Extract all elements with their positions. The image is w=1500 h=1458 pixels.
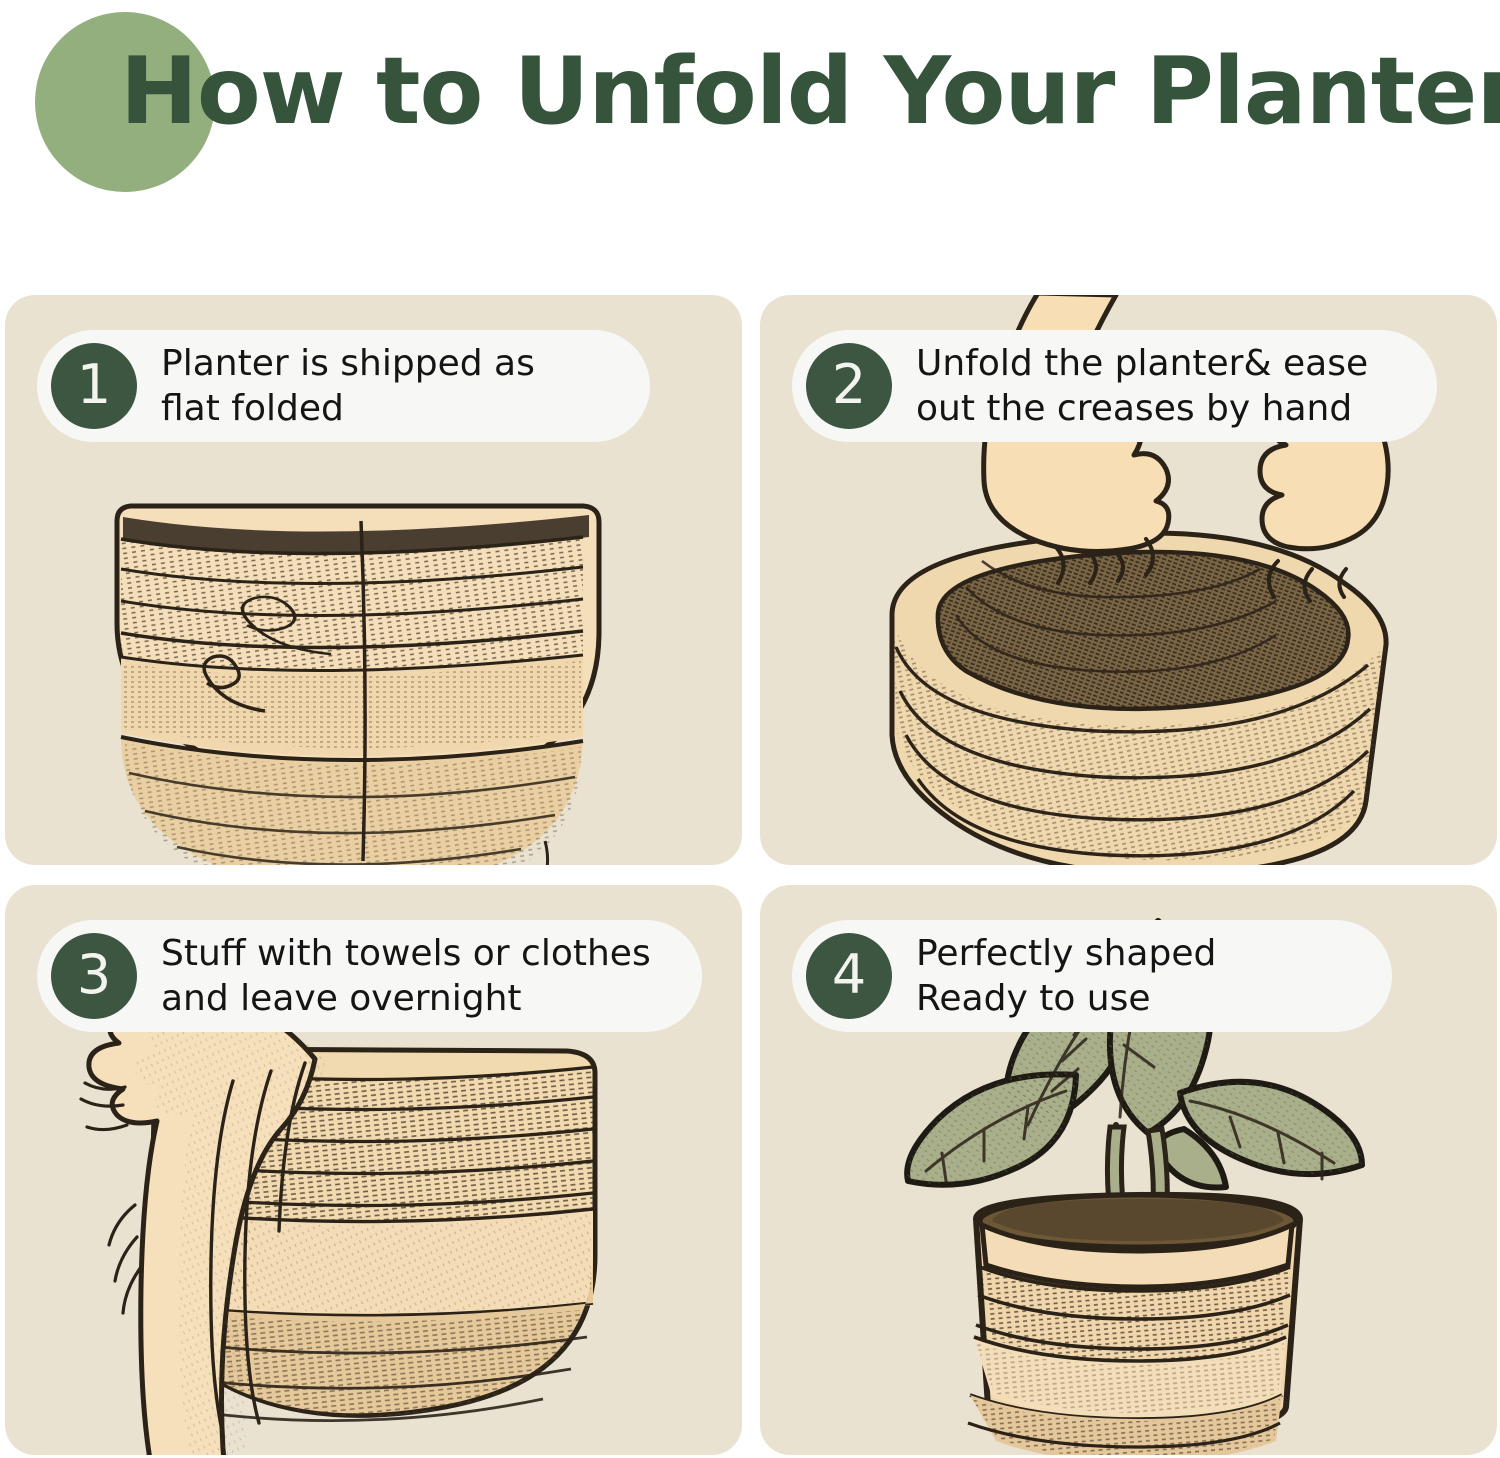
step-number-badge-4: 4 — [806, 933, 892, 1019]
step-panel-4: 4 Perfectly shaped Ready to use — [760, 885, 1497, 1455]
step-panel-3: 3 Stuff with towels or clothes and leave… — [5, 885, 742, 1455]
steps-grid: 1 Planter is shipped as flat folded — [5, 295, 1495, 1455]
step-caption-text-3: Stuff with towels or clothes and leave o… — [161, 931, 651, 1021]
step-caption-text-4: Perfectly shaped Ready to use — [916, 931, 1216, 1021]
step-panel-2: 2 Unfold the planter& ease out the creas… — [760, 295, 1497, 865]
step-number-badge-1: 1 — [51, 343, 137, 429]
step-number-badge-2: 2 — [806, 343, 892, 429]
step-caption-pill-1: 1 Planter is shipped as flat folded — [37, 330, 650, 442]
page-title: How to Unfold Your Planter — [120, 36, 1470, 146]
page-header: How to Unfold Your Planter — [0, 0, 1500, 270]
step-caption-pill-4: 4 Perfectly shaped Ready to use — [792, 920, 1392, 1032]
step-caption-pill-3: 3 Stuff with towels or clothes and leave… — [37, 920, 702, 1032]
step-caption-pill-2: 2 Unfold the planter& ease out the creas… — [792, 330, 1437, 442]
step-caption-text-1: Planter is shipped as flat folded — [161, 341, 535, 431]
step-caption-text-2: Unfold the planter& ease out the creases… — [916, 341, 1368, 431]
step-number-badge-3: 3 — [51, 933, 137, 1019]
step-panel-1: 1 Planter is shipped as flat folded — [5, 295, 742, 865]
